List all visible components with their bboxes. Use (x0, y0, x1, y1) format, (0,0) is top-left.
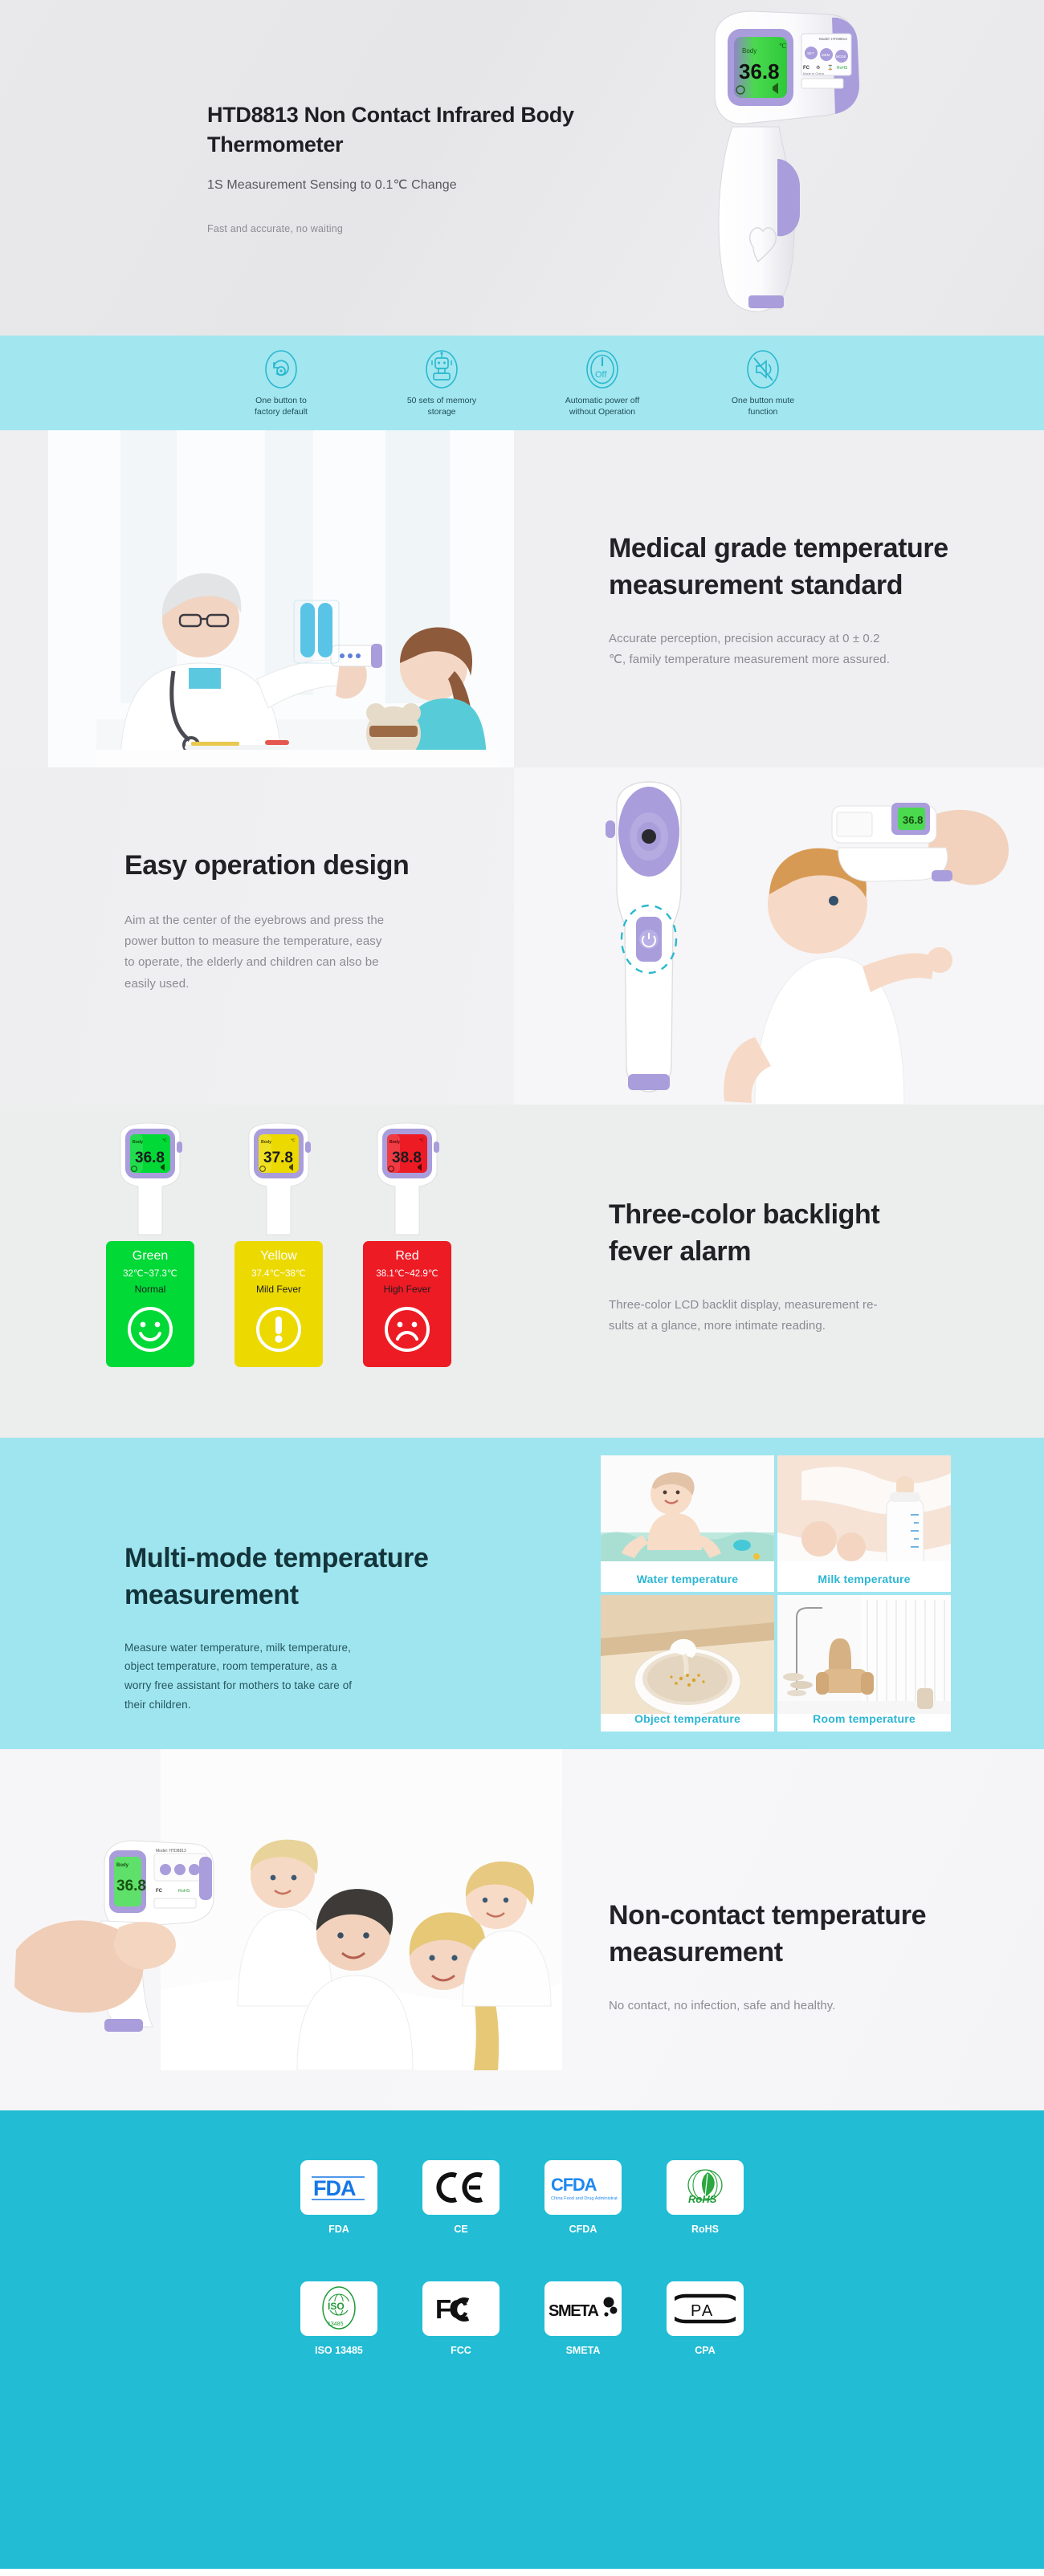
multimode-heading-line2: measurement (124, 1577, 462, 1614)
family-in-bed-with-thermometer-photo: 36.8 Body Model: HTD8813 FC RoHS (0, 1749, 562, 2070)
baby-bottle-photo (777, 1455, 951, 1592)
svg-text:℃: ℃ (291, 1138, 296, 1143)
tricolor-body-line1: Three-color LCD backlit display, measure… (609, 1295, 962, 1316)
svg-text:37.8: 37.8 (263, 1150, 293, 1166)
certification-label: CPA (667, 2345, 744, 2356)
svg-text:SMETA: SMETA (549, 2302, 598, 2320)
svg-text:36.8: 36.8 (135, 1150, 165, 1166)
tricolor-card-list: Body ℃ 36.8 Green 32℃~37.3℃ Normal (106, 1121, 451, 1367)
multimode-body-line3: worry free assistant for mothers to take… (124, 1676, 462, 1695)
thermometer-red-illustration: Body ℃ 38.8 (363, 1121, 451, 1237)
noncontact-heading-line1: Non-contact temperature (609, 1898, 978, 1935)
cfda-subtitle: China Food and Drug Administration (551, 2196, 618, 2201)
multimode-heading: Multi-mode temperature measurement (124, 1540, 462, 1614)
svg-text:CFDA: CFDA (551, 2175, 597, 2195)
thermometer-front-view-and-baby-photo: 36.8 (514, 767, 1044, 1105)
tricolor-state: Mild Fever (238, 1284, 320, 1295)
tricolor-panel: Green 32℃~37.3℃ Normal (106, 1241, 194, 1367)
tricolor-card: Body ℃ 36.8 Green 32℃~37.3℃ Normal (106, 1121, 194, 1367)
mode-card-milk: Milk temperature (777, 1455, 951, 1592)
page-title: HTD8813 Non Contact Infrared Body Thermo… (207, 100, 625, 159)
thermometer-green-illustration: Body ℃ 36.8 (106, 1121, 194, 1237)
svg-text:Model: HTD8813: Model: HTD8813 (819, 37, 847, 41)
tricolor-panel: Red 38.1℃~42.9℃ High Fever (363, 1241, 451, 1367)
certification-label: RoHS (667, 2224, 744, 2235)
multimode-body-line4: their children. (124, 1695, 462, 1715)
certification-label: SMETA (544, 2345, 622, 2356)
multimode-heading-line1: Multi-mode temperature (124, 1540, 462, 1577)
certification-item-cfda: CFDA China Food and Drug Administration … (544, 2160, 622, 2235)
iso-13485-icon: ISO 13485 (300, 2281, 377, 2336)
feature-label-line2: factory default (201, 406, 361, 417)
tricolor-copy: Three-color backlight fever alarm Three-… (609, 1197, 962, 1337)
tricolor-heading: Three-color backlight fever alarm (609, 1197, 962, 1271)
hero-screen-unit: ℃ (779, 43, 786, 50)
certification-label: FCC (422, 2345, 500, 2356)
smeta-logo-icon: SMETA (544, 2281, 622, 2336)
easy-body: Aim at the center of the eyebrows and pr… (124, 910, 462, 995)
feature-item-factory-reset: One button to factory default (201, 348, 361, 417)
tricolor-range: 38.1℃~42.9℃ (366, 1268, 448, 1279)
svg-text:Body: Body (133, 1140, 143, 1145)
multimode-body: Measure water temperature, milk temperat… (124, 1638, 462, 1715)
certification-label: CFDA (544, 2224, 622, 2235)
feature-item-auto-power-off: Off Automatic power off without Operatio… (522, 348, 683, 417)
certification-item-smeta: SMETA SMETA (544, 2281, 622, 2356)
svg-text:Body: Body (389, 1140, 400, 1145)
tricolor-state: High Fever (366, 1284, 448, 1295)
hero-tagline: Fast and accurate, no waiting (207, 223, 625, 234)
certification-label: CE (422, 2224, 500, 2235)
mode-card-water: Water temperature (601, 1455, 774, 1592)
feature-label-line1: One button to (201, 395, 361, 406)
feature-label-line1: Automatic power off (522, 395, 683, 406)
warning-face-icon (238, 1304, 320, 1354)
hero-subtitle: 1S Measurement Sensing to 0.1℃ Change (207, 177, 625, 193)
easy-body-line2: power button to measure the temperature,… (124, 931, 462, 952)
noncontact-body: No contact, no infection, safe and healt… (609, 1996, 978, 2016)
feature-label: 50 sets of memory storage (361, 395, 522, 417)
mode-label: Object temperature (601, 1712, 774, 1725)
svg-text:Body: Body (742, 47, 756, 55)
svg-text:♻: ♻ (816, 65, 820, 71)
svg-text:FC: FC (156, 1889, 163, 1894)
feature-label: Automatic power off without Operation (522, 395, 683, 417)
medical-grade-copy: Medical grade temperature measurement st… (609, 531, 986, 670)
svg-text:RoHS: RoHS (178, 1889, 190, 1894)
svg-text:℃: ℃ (162, 1138, 167, 1143)
fda-logo-icon: FDA (300, 2160, 377, 2215)
factory-reset-icon (201, 348, 361, 390)
feature-label-line1: One button mute (683, 395, 843, 406)
medical-body-line1: Accurate perception, precision accuracy … (609, 629, 986, 649)
svg-text:36.8: 36.8 (903, 814, 923, 826)
certifications-section: FDA FDA CE C (0, 2110, 1044, 2569)
tricolor-range: 32℃~37.3℃ (109, 1268, 191, 1279)
doctor-measuring-child-temperature-photo (0, 430, 562, 767)
tricolor-body: Three-color LCD backlit display, measure… (609, 1295, 962, 1337)
svg-text:RoHS: RoHS (837, 66, 848, 71)
multimode-body-line2: object temperature, room temperature, as… (124, 1657, 462, 1676)
tricolor-heading-line1: Three-color backlight (609, 1197, 962, 1234)
svg-text:PA: PA (691, 2302, 714, 2320)
product-detail-page: HTD8813 Non Contact Infrared Body Thermo… (0, 0, 1044, 2576)
certification-item-iso: ISO 13485 ISO 13485 (300, 2281, 377, 2356)
mute-icon (683, 348, 843, 390)
memory-storage-icon (361, 348, 522, 390)
hero-text-block: HTD8813 Non Contact Infrared Body Thermo… (207, 100, 625, 234)
mode-label: Milk temperature (777, 1573, 951, 1585)
cfda-logo-icon: CFDA China Food and Drug Administration (544, 2160, 622, 2215)
easy-heading: Easy operation design (124, 848, 462, 885)
svg-text:Body: Body (261, 1140, 271, 1145)
feature-label-line2: without Operation (522, 406, 683, 417)
thermometer-hero-illustration: Body ℃ 36.8 Model: HTD8813 SET MEM MODE … (659, 6, 899, 328)
feature-label-line2: function (683, 406, 843, 417)
feature-item-memory-storage: 50 sets of memory storage (361, 348, 522, 417)
tricolor-panel: Yellow 37.4℃~38℃ Mild Fever (234, 1241, 323, 1367)
hero-product-image: Body ℃ 36.8 Model: HTD8813 SET MEM MODE … (659, 6, 899, 328)
noncontact-copy: Non-contact temperature measurement No c… (609, 1898, 978, 2016)
svg-text:MEM: MEM (822, 53, 830, 57)
certification-item-fda: FDA FDA (300, 2160, 377, 2235)
bowl-of-soup-photo (601, 1595, 774, 1732)
noncontact-heading-line2: measurement (609, 1935, 978, 1972)
certification-item-cpa: PA CPA (667, 2281, 744, 2356)
svg-text:36.8: 36.8 (116, 1878, 146, 1894)
certification-item-rohs: RoHS RoHS (667, 2160, 744, 2235)
svg-text:FDA: FDA (313, 2176, 356, 2200)
multimode-section: Multi-mode temperature measurement Measu… (0, 1438, 1044, 1749)
certification-row: ISO 13485 ISO 13485 FC FCC (0, 2281, 1044, 2356)
noncontact-section: 36.8 Body Model: HTD8813 FC RoHS Non-con… (0, 1749, 1044, 2110)
hero-section: HTD8813 Non Contact Infrared Body Thermo… (0, 0, 1044, 336)
easy-operation-section: Easy operation design Aim at the center … (0, 767, 1044, 1105)
easy-operation-copy: Easy operation design Aim at the center … (124, 848, 462, 995)
svg-text:⌛: ⌛ (827, 64, 833, 71)
svg-text:℃: ℃ (419, 1138, 424, 1143)
feature-highlights-bar: One button to factory default 50 sets of… (0, 336, 1044, 430)
living-room-photo (777, 1595, 951, 1732)
certification-label: FDA (300, 2224, 377, 2235)
svg-text:38.8: 38.8 (392, 1150, 422, 1166)
medical-body-line2: ℃, family temperature measurement more a… (609, 649, 986, 670)
hero-screen-reading: 36.8 (739, 59, 780, 83)
easy-body-line3: to operate, the elderly and children can… (124, 952, 462, 973)
multimode-photo-grid: Water temperature (601, 1455, 951, 1732)
easy-body-line4: easily used. (124, 974, 462, 995)
multimode-body-line1: Measure water temperature, milk temperat… (124, 1638, 462, 1658)
svg-text:Off: Off (595, 370, 607, 380)
feature-item-mute: One button mute function (683, 348, 843, 417)
iso-number: 13485 (328, 2322, 344, 2327)
svg-text:ISO: ISO (328, 2301, 345, 2312)
mode-card-object: Object temperature (601, 1595, 774, 1732)
tricolor-range: 37.4℃~38℃ (238, 1268, 320, 1279)
baby-in-bath-photo (601, 1455, 774, 1592)
mode-label: Water temperature (601, 1573, 774, 1585)
easy-body-line1: Aim at the center of the eyebrows and pr… (124, 910, 462, 931)
feature-label-line2: storage (361, 406, 522, 417)
tricolor-body-line2: sults at a glance, more intimate reading… (609, 1316, 962, 1337)
tricolor-name: Red (366, 1248, 448, 1264)
ce-mark-icon (422, 2160, 500, 2215)
svg-text:Model: HTD8813: Model: HTD8813 (156, 1849, 186, 1854)
noncontact-heading: Non-contact temperature measurement (609, 1898, 978, 1972)
tricolor-card: Body ℃ 38.8 Red 38.1℃~42.9℃ High Fever (363, 1121, 451, 1367)
medical-heading-line2: measurement standard (609, 568, 986, 604)
svg-text:Made in China: Made in China (803, 71, 825, 75)
sad-face-icon (366, 1304, 448, 1354)
cpa-mark-icon: PA (667, 2281, 744, 2336)
tricolor-name: Green (109, 1248, 191, 1264)
certification-item-fcc: FC FCC (422, 2281, 500, 2356)
svg-text:Body: Body (116, 1863, 129, 1868)
fcc-mark-icon: FC (422, 2281, 500, 2336)
tricolor-backlight-section: Body ℃ 36.8 Green 32℃~37.3℃ Normal (0, 1105, 1044, 1438)
svg-text:MODE: MODE (836, 55, 846, 59)
certification-label: ISO 13485 (300, 2345, 377, 2356)
auto-power-off-icon: Off (522, 348, 683, 390)
mode-label: Room temperature (777, 1712, 951, 1725)
svg-text:RoHS: RoHS (688, 2193, 717, 2205)
feature-label-line1: 50 sets of memory (361, 395, 522, 406)
feature-label: One button to factory default (201, 395, 361, 417)
tricolor-card: Body ℃ 37.8 Yellow 37.4℃~38℃ Mild Fever (234, 1121, 323, 1367)
svg-text:SET: SET (807, 51, 814, 55)
medical-heading: Medical grade temperature measurement st… (609, 531, 986, 604)
smile-face-icon (109, 1304, 191, 1354)
medical-heading-line1: Medical grade temperature (609, 531, 986, 568)
certification-item-ce: CE (422, 2160, 500, 2235)
multimode-copy: Multi-mode temperature measurement Measu… (124, 1540, 462, 1714)
tricolor-state: Normal (109, 1284, 191, 1295)
rohs-leaf-icon: RoHS (667, 2160, 744, 2215)
medical-grade-section: Medical grade temperature measurement st… (0, 430, 1044, 767)
tricolor-name: Yellow (238, 1248, 320, 1264)
certification-row: FDA FDA CE C (0, 2160, 1044, 2235)
tricolor-heading-line2: fever alarm (609, 1234, 962, 1271)
mode-card-room: Room temperature (777, 1595, 951, 1732)
svg-text:FC: FC (803, 66, 810, 71)
medical-body: Accurate perception, precision accuracy … (609, 629, 986, 671)
thermometer-yellow-illustration: Body ℃ 37.8 (234, 1121, 323, 1237)
feature-label: One button mute function (683, 395, 843, 417)
